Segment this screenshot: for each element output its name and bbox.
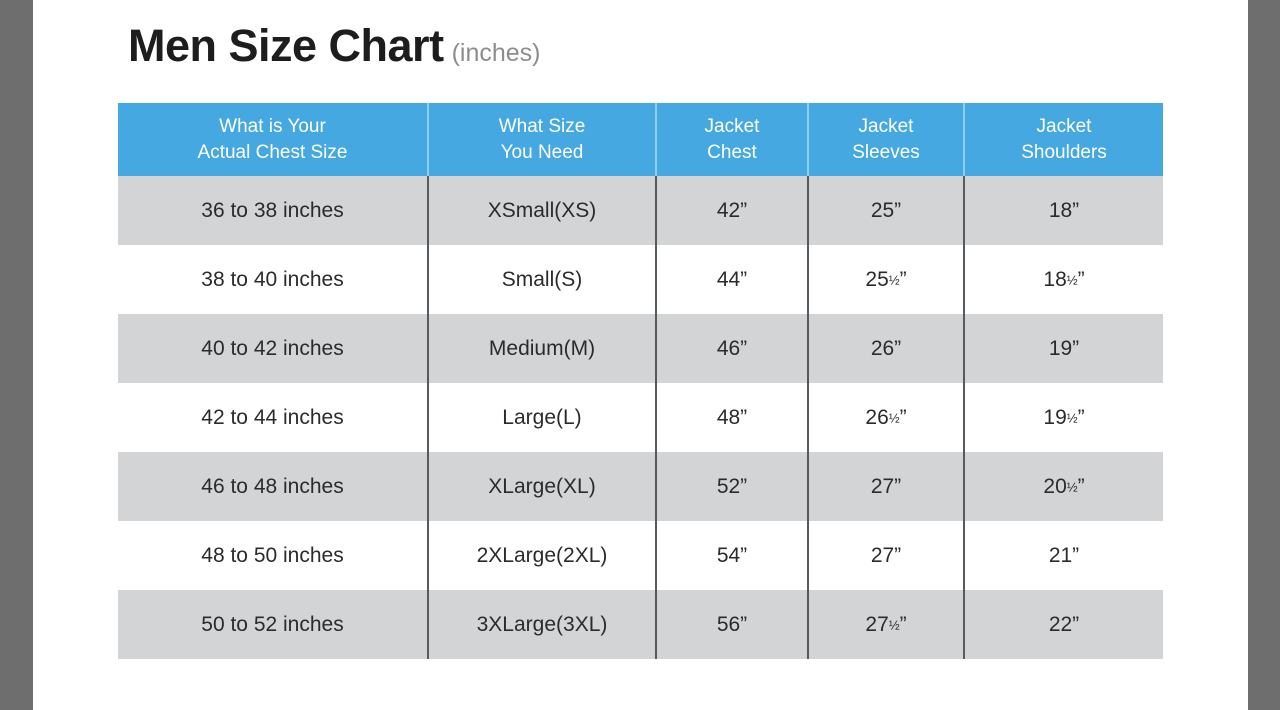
cell-jacket-chest: 42” bbox=[656, 176, 808, 245]
value-whole: 22 bbox=[1049, 613, 1072, 636]
cell-size-label: 3XLarge(3XL) bbox=[428, 590, 656, 659]
cell-jacket-chest: 56” bbox=[656, 590, 808, 659]
cell-jacket-sleeves: 27” bbox=[808, 452, 964, 521]
letterbox-bar-right bbox=[1248, 0, 1280, 710]
inch-mark: ” bbox=[894, 544, 901, 567]
cell-jacket-chest: 46” bbox=[656, 314, 808, 383]
cell-chest-range: 50 to 52 inches bbox=[118, 590, 428, 659]
value-fraction: ½ bbox=[1067, 410, 1078, 425]
page-title: Men Size Chart(inches) bbox=[128, 20, 540, 72]
cell-jacket-sleeves: 27½” bbox=[808, 590, 964, 659]
chart-page: Men Size Chart(inches) What is Your Actu… bbox=[33, 0, 1248, 710]
table-row: 46 to 48 inches XLarge(XL) 52” 27” 20½” bbox=[118, 452, 1163, 521]
value-whole: 27 bbox=[865, 613, 888, 636]
value-fraction: ½ bbox=[889, 617, 900, 632]
value-whole: 26 bbox=[865, 406, 888, 429]
cell-size-label: Small(S) bbox=[428, 245, 656, 314]
value-fraction: ½ bbox=[1067, 479, 1078, 494]
cell-jacket-sleeves: 26” bbox=[808, 314, 964, 383]
cell-jacket-chest: 52” bbox=[656, 452, 808, 521]
cell-chest-range: 42 to 44 inches bbox=[118, 383, 428, 452]
column-header-line1: What Size bbox=[429, 114, 655, 139]
value-whole: 25 bbox=[871, 199, 894, 222]
cell-jacket-shoulders: 18½” bbox=[964, 245, 1163, 314]
column-header-jacket-sleeves: Jacket Sleeves bbox=[808, 103, 964, 176]
value-whole: 27 bbox=[871, 475, 894, 498]
value-fraction: ½ bbox=[889, 272, 900, 287]
screenshot-stage: Men Size Chart(inches) What is Your Actu… bbox=[0, 0, 1280, 710]
value-whole: 18 bbox=[1049, 199, 1072, 222]
inch-mark: ” bbox=[894, 337, 901, 360]
table-row: 36 to 38 inches XSmall(XS) 42” 25” 18” bbox=[118, 176, 1163, 245]
page-title-unit: (inches) bbox=[452, 39, 541, 67]
cell-jacket-chest: 48” bbox=[656, 383, 808, 452]
table-row: 50 to 52 inches 3XLarge(3XL) 56” 27½” 22… bbox=[118, 590, 1163, 659]
value-whole: 27 bbox=[871, 544, 894, 567]
cell-chest-range: 36 to 38 inches bbox=[118, 176, 428, 245]
column-header-jacket-chest: Jacket Chest bbox=[656, 103, 808, 176]
value-whole: 18 bbox=[1043, 268, 1066, 291]
column-header-line2: Sleeves bbox=[809, 140, 963, 165]
value-fraction: ½ bbox=[1067, 272, 1078, 287]
value-whole: 25 bbox=[865, 268, 888, 291]
inch-mark: ” bbox=[1072, 337, 1079, 360]
table-header: What is Your Actual Chest Size What Size… bbox=[118, 103, 1163, 176]
value-whole: 19 bbox=[1049, 337, 1072, 360]
column-header-line2: Chest bbox=[657, 140, 807, 165]
cell-jacket-sleeves: 26½” bbox=[808, 383, 964, 452]
table-body: 36 to 38 inches XSmall(XS) 42” 25” 18” 3… bbox=[118, 176, 1163, 659]
cell-chest-range: 46 to 48 inches bbox=[118, 452, 428, 521]
cell-jacket-chest: 54” bbox=[656, 521, 808, 590]
column-header-actual-chest-size: What is Your Actual Chest Size bbox=[118, 103, 428, 176]
inch-mark: ” bbox=[1072, 544, 1079, 567]
cell-jacket-shoulders: 19” bbox=[964, 314, 1163, 383]
cell-size-label: XLarge(XL) bbox=[428, 452, 656, 521]
cell-chest-range: 38 to 40 inches bbox=[118, 245, 428, 314]
cell-jacket-shoulders: 19½” bbox=[964, 383, 1163, 452]
table-row: 48 to 50 inches 2XLarge(2XL) 54” 27” 21” bbox=[118, 521, 1163, 590]
column-header-line1: Jacket bbox=[809, 114, 963, 139]
value-whole: 26 bbox=[871, 337, 894, 360]
inch-mark: ” bbox=[900, 268, 907, 291]
inch-mark: ” bbox=[1072, 199, 1079, 222]
value-whole: 21 bbox=[1049, 544, 1072, 567]
table-row: 42 to 44 inches Large(L) 48” 26½” 19½” bbox=[118, 383, 1163, 452]
inch-mark: ” bbox=[894, 199, 901, 222]
cell-jacket-shoulders: 21” bbox=[964, 521, 1163, 590]
cell-jacket-shoulders: 18” bbox=[964, 176, 1163, 245]
cell-size-label: XSmall(XS) bbox=[428, 176, 656, 245]
table-row: 38 to 40 inches Small(S) 44” 25½” 18½” bbox=[118, 245, 1163, 314]
value-fraction: ½ bbox=[889, 410, 900, 425]
column-header-line2: Shoulders bbox=[965, 140, 1163, 165]
cell-size-label: Medium(M) bbox=[428, 314, 656, 383]
inch-mark: ” bbox=[900, 406, 907, 429]
inch-mark: ” bbox=[1078, 406, 1085, 429]
cell-jacket-shoulders: 22” bbox=[964, 590, 1163, 659]
value-whole: 20 bbox=[1043, 475, 1066, 498]
table-row: 40 to 42 inches Medium(M) 46” 26” 19” bbox=[118, 314, 1163, 383]
letterbox-bar-left bbox=[0, 0, 33, 710]
column-header-line2: Actual Chest Size bbox=[118, 140, 427, 165]
value-whole: 19 bbox=[1043, 406, 1066, 429]
inch-mark: ” bbox=[1072, 613, 1079, 636]
cell-size-label: 2XLarge(2XL) bbox=[428, 521, 656, 590]
inch-mark: ” bbox=[1078, 475, 1085, 498]
column-header-size-you-need: What Size You Need bbox=[428, 103, 656, 176]
cell-chest-range: 40 to 42 inches bbox=[118, 314, 428, 383]
cell-jacket-sleeves: 25½” bbox=[808, 245, 964, 314]
page-title-main: Men Size Chart bbox=[128, 20, 444, 71]
inch-mark: ” bbox=[900, 613, 907, 636]
table-header-row: What is Your Actual Chest Size What Size… bbox=[118, 103, 1163, 176]
cell-size-label: Large(L) bbox=[428, 383, 656, 452]
inch-mark: ” bbox=[1078, 268, 1085, 291]
size-chart-table: What is Your Actual Chest Size What Size… bbox=[118, 103, 1163, 659]
cell-jacket-chest: 44” bbox=[656, 245, 808, 314]
cell-jacket-shoulders: 20½” bbox=[964, 452, 1163, 521]
cell-jacket-sleeves: 25” bbox=[808, 176, 964, 245]
column-header-line1: Jacket bbox=[965, 114, 1163, 139]
cell-jacket-sleeves: 27” bbox=[808, 521, 964, 590]
column-header-line1: Jacket bbox=[657, 114, 807, 139]
column-header-jacket-shoulders: Jacket Shoulders bbox=[964, 103, 1163, 176]
cell-chest-range: 48 to 50 inches bbox=[118, 521, 428, 590]
column-header-line1: What is Your bbox=[118, 114, 427, 139]
column-header-line2: You Need bbox=[429, 140, 655, 165]
inch-mark: ” bbox=[894, 475, 901, 498]
